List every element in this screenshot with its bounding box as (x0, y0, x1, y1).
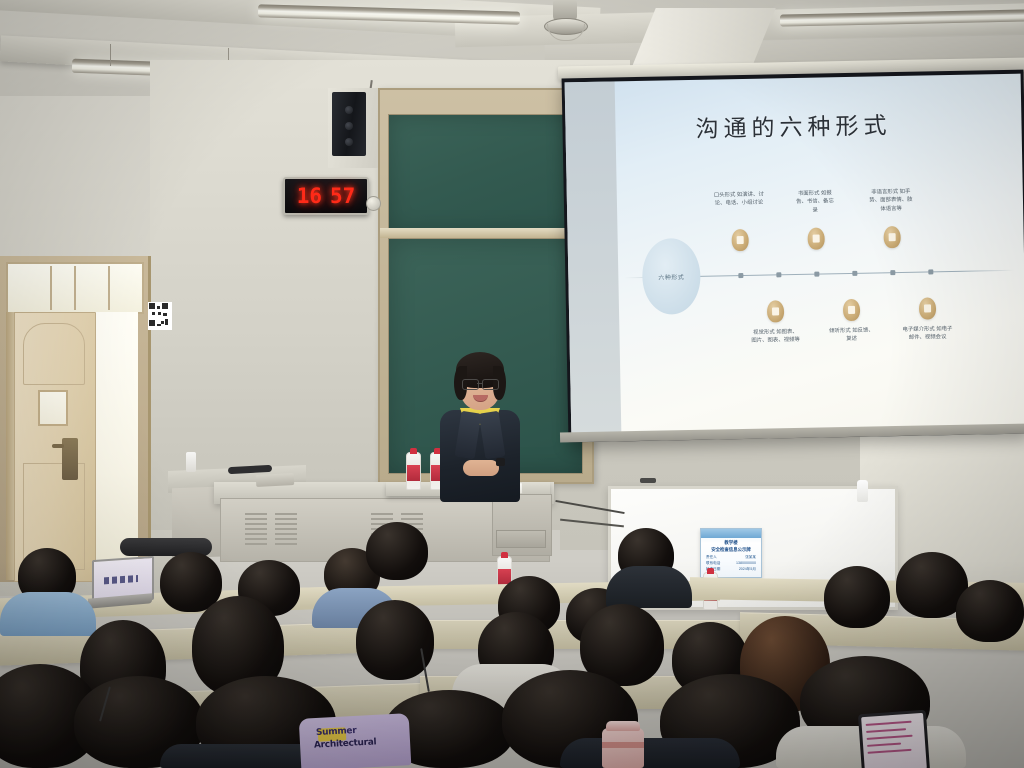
spray-bottle[interactable] (857, 480, 868, 502)
lectern-drawer[interactable] (496, 530, 546, 548)
laptop[interactable] (88, 558, 150, 608)
axis-dot (928, 269, 933, 274)
tablet[interactable] (858, 710, 930, 768)
door-window (38, 390, 68, 426)
clock-minutes: 57 (330, 186, 355, 207)
student-torso (606, 566, 692, 608)
axis-dot (852, 271, 857, 276)
clock-hours: 16 (297, 186, 322, 207)
wall-speaker-icon (328, 88, 378, 168)
slide-label-top: 书面形式 如报 告、书信、备忘 录 (780, 189, 850, 215)
glasses-icon (462, 379, 479, 390)
slide-node (731, 229, 748, 251)
door-handle[interactable] (62, 438, 78, 480)
wristwatch-icon (496, 458, 505, 466)
axis-dot (738, 273, 743, 278)
slide-label-bottom: 视觉形式 如图表、 图片、图表、视频等 (740, 328, 810, 346)
door-transom-window (6, 262, 144, 314)
projection-screen: 沟通的六种形式 六种形式 口头形式 如演讲、讨 论、电话、小组讨论 书面形式 如… (562, 70, 1024, 443)
info-sign-title-2: 安全检查信息公示牌 (701, 547, 761, 554)
student-head (956, 580, 1024, 642)
thermos-flask[interactable] (602, 728, 644, 768)
slide-label-top: 口头形式 如演讲、讨 论、电话、小组讨论 (704, 190, 774, 208)
axis-dot (890, 270, 895, 275)
screen-letterbox (565, 81, 622, 434)
presenter (430, 352, 530, 498)
sanitizer-bottle[interactable] (186, 452, 196, 472)
microphone-base (256, 473, 295, 487)
info-sign-title-1: 教学楼 (701, 540, 761, 547)
door-hinge (6, 312, 14, 580)
student-head (356, 600, 434, 680)
slide-hub: 六种形式 (642, 238, 701, 315)
slide-node (919, 297, 936, 319)
chalk-tray (380, 228, 588, 238)
student-head (824, 566, 890, 628)
motion-sensor-icon (366, 196, 381, 211)
backpack-text-line1: Summer (316, 726, 357, 738)
whiteboard-marker[interactable] (640, 478, 656, 483)
student-torso (0, 592, 96, 636)
slide-label-top: 非语言形式 如手 势、面部表情、肢 体语言等 (856, 187, 926, 213)
chalkboard-upper-panel (388, 114, 583, 232)
axis-dot (814, 272, 819, 277)
student-head (366, 522, 428, 580)
slide-title: 沟通的六种形式 (565, 104, 1022, 147)
slide-label-bottom: 倾听形式 如反馈、 复述 (816, 326, 886, 344)
qr-code-icon (148, 302, 172, 330)
classroom-scene: 16 57 沟通的六种形式 六种形式 口头形式 如演讲、讨 论、电话、小组讨论 (0, 0, 1024, 768)
slide-node (843, 299, 860, 321)
ceiling-fan-icon (536, 0, 594, 42)
axis-dot (776, 272, 781, 277)
light-hanger (110, 44, 111, 66)
slide-node (883, 226, 900, 248)
student-torso (560, 738, 740, 768)
slide-node (807, 227, 824, 249)
slide-hub-label: 六种形式 (658, 272, 684, 281)
slide-node (767, 300, 784, 322)
slide-surface: 沟通的六种形式 六种形式 口头形式 如演讲、讨 论、电话、小组讨论 书面形式 如… (565, 74, 1024, 435)
water-bottle[interactable] (406, 452, 421, 490)
led-wall-clock: 16 57 (283, 177, 369, 215)
slide-label-bottom: 电子媒介形式 如电子 邮件、视频会议 (892, 325, 962, 343)
